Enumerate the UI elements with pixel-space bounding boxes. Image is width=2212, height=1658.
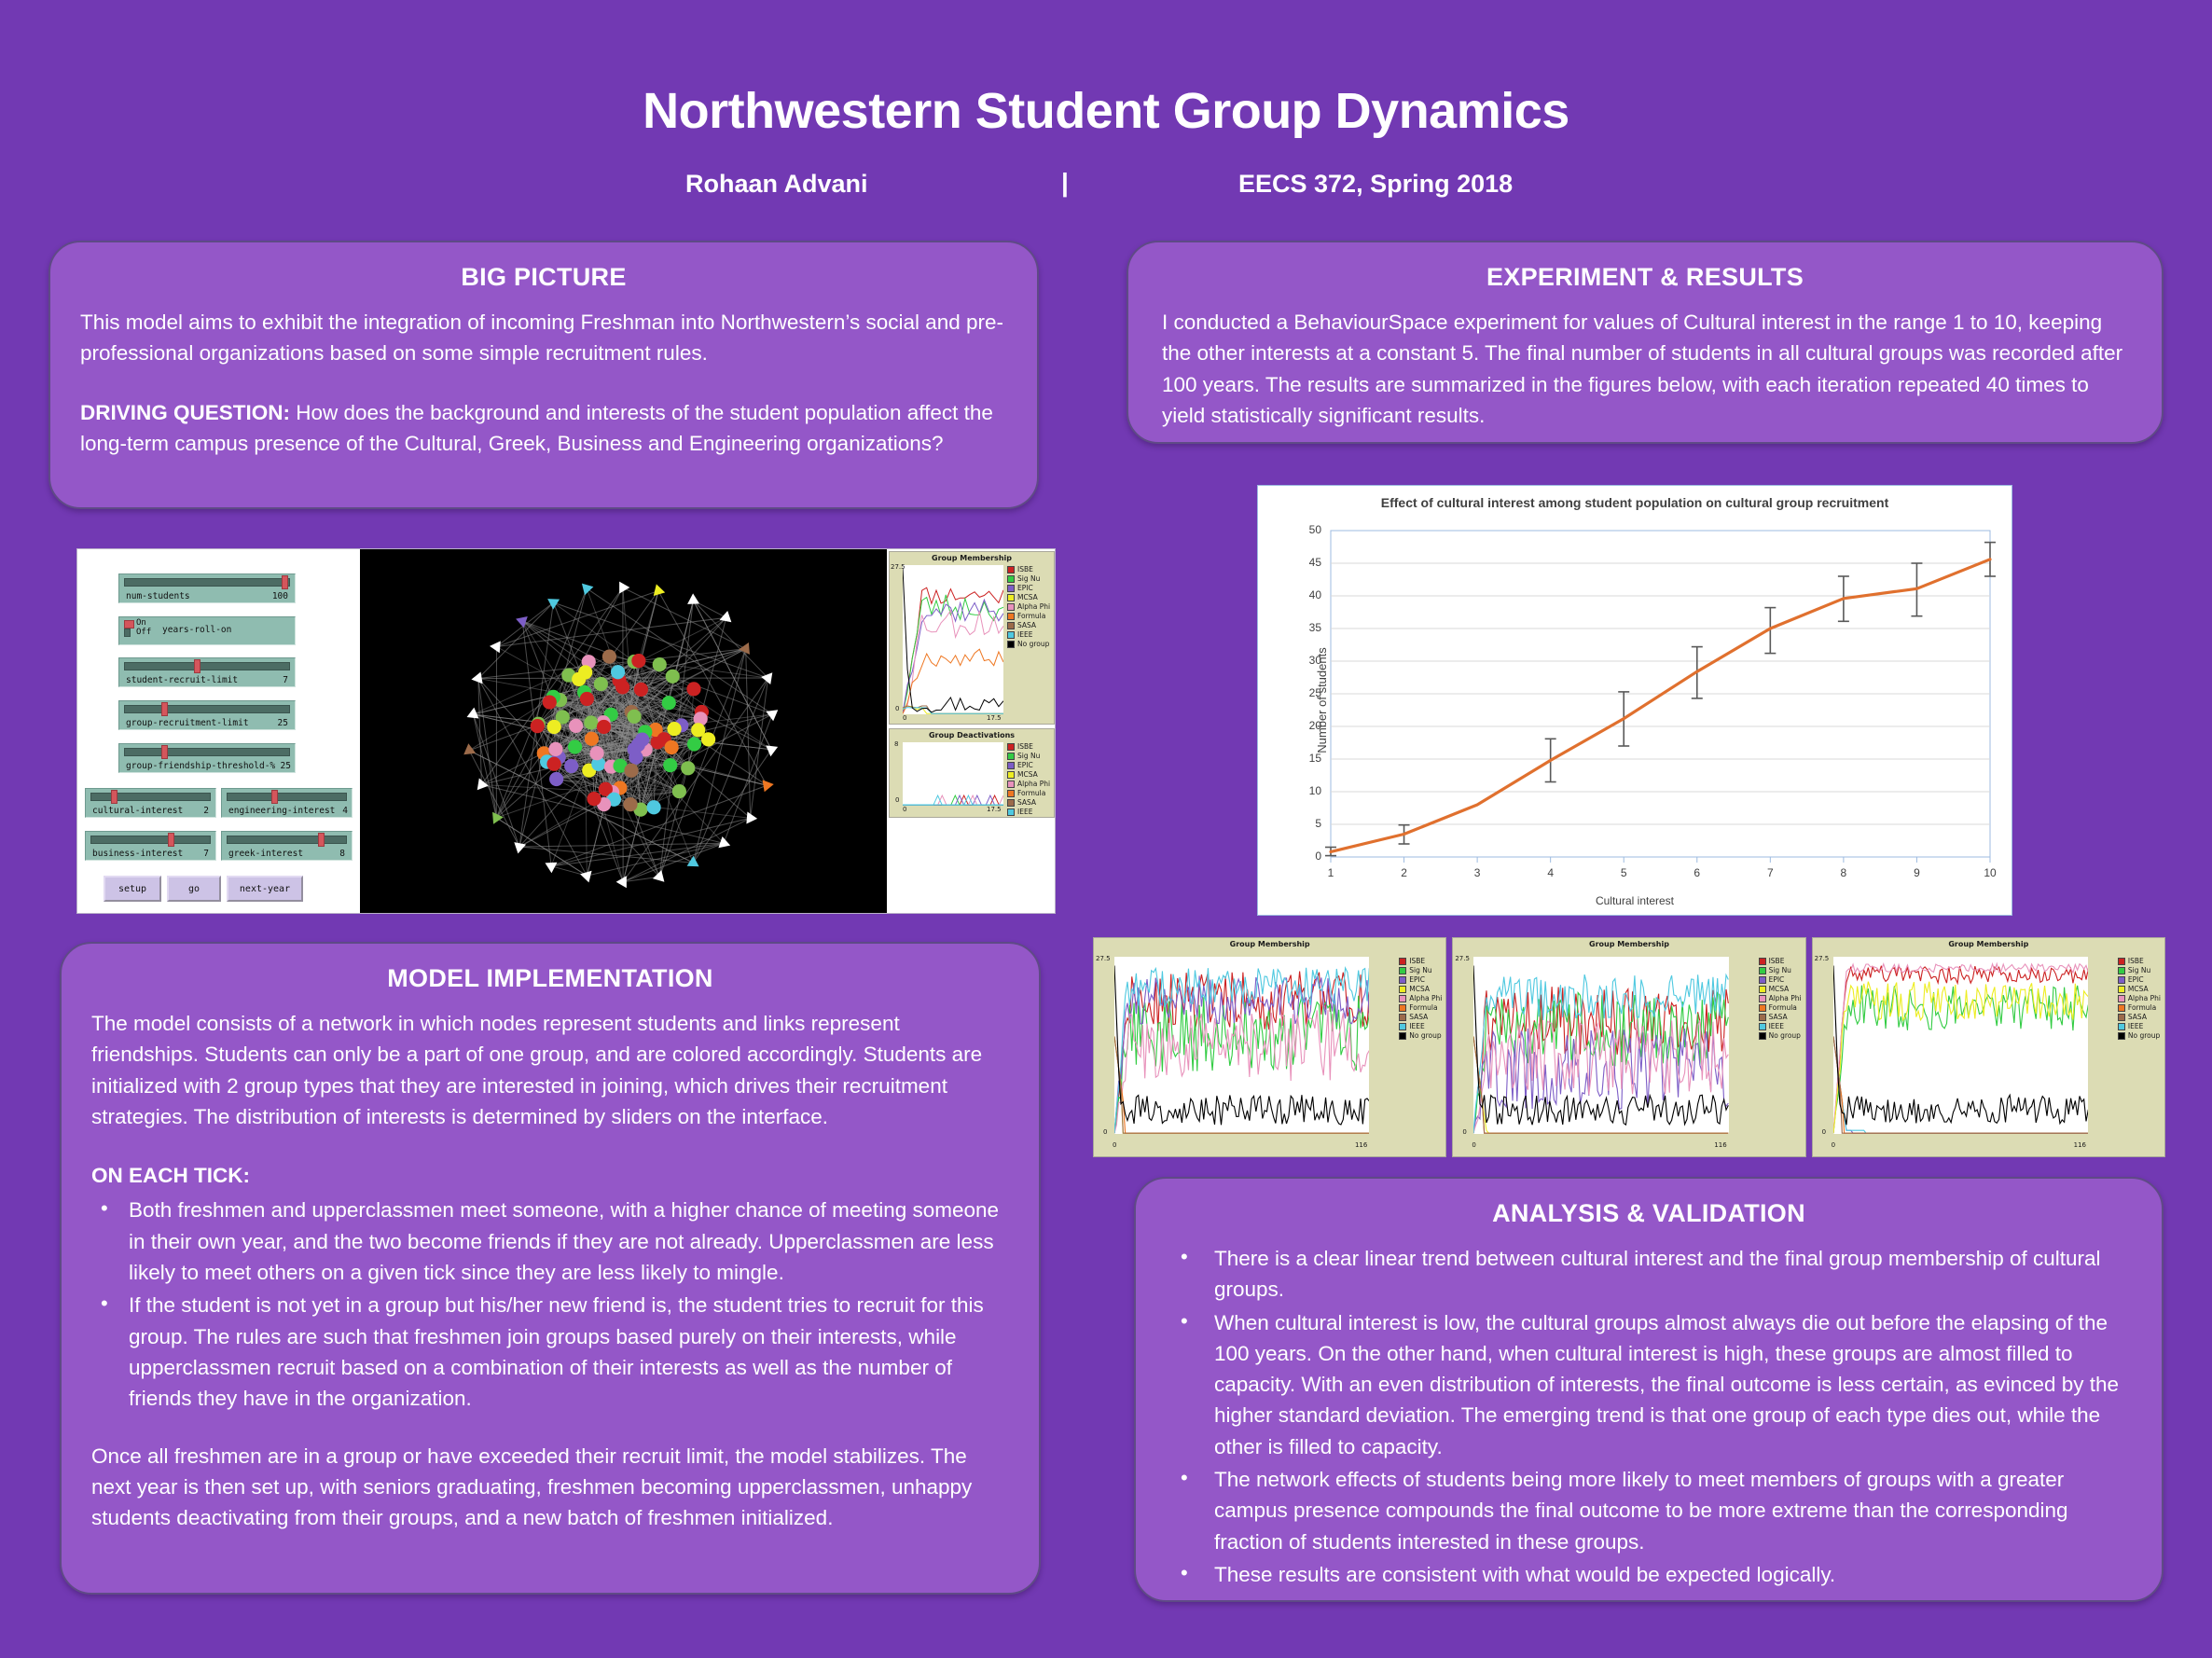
slider-track [124,578,290,587]
slider-thumb[interactable] [168,833,174,847]
plot-title: Group Deactivations [890,731,1054,739]
network-node-student [547,720,561,734]
legend-item: Sig Nu [1007,574,1050,583]
slider-label: cultural-interest [92,806,183,816]
legend-item: IEEE [1007,630,1050,639]
network-node-student [589,746,603,760]
slider-group-recruitment-limit[interactable]: group-recruitment-limit 25 [118,700,296,730]
slider-thumb[interactable] [161,702,168,716]
legend-item: ISBE [2118,957,2161,965]
plot-legend: ISBESig NuEPICMCSAAlpha PhiFormulaSASAIE… [1399,957,1442,1041]
legend-color-swatch [1007,753,1015,760]
legend-label: EPIC [1017,761,1033,769]
legend-label: MCSA [1769,985,1790,993]
plot-group-deactivations: Group Deactivations 8 0 0 17.5 ISBESig N… [889,728,1055,818]
byline: Rohaan Advani | EECS 372, Spring 2018 [0,170,2212,209]
model-heading: MODEL IMPLEMENTATION [91,964,1009,993]
legend-label: SASA [1769,1013,1788,1021]
network-node-student [662,696,676,710]
legend-item: IEEE [1759,1022,1802,1030]
legend-label: MCSA [2128,985,2149,993]
plot-series-line [903,587,1003,713]
network-node-student [580,692,594,706]
main-chart: Effect of cultural interest among studen… [1257,485,2012,916]
legend-color-swatch [1399,967,1406,974]
network-node-student [634,683,648,697]
legend-label: SASA [1409,1013,1428,1021]
network-node-student [564,759,578,773]
plot-group-membership-run-1: Group Membership 27.5 0 0 116 ISBESig Nu… [1093,937,1446,1157]
legend-label: IEEE [1769,1022,1784,1030]
legend-label: SASA [1017,621,1036,629]
plot-y-min: 0 [1103,1128,1107,1136]
legend-item: MCSA [1399,985,1442,993]
legend-label: ISBE [1017,742,1033,751]
legend-color-swatch [1399,1014,1406,1021]
plot-series-line [1833,1037,2088,1134]
legend-label: Sig Nu [1409,966,1431,974]
plot-legend: ISBESig NuEPICMCSAAlpha PhiFormulaSASAIE… [1007,742,1050,817]
network-node-upperclassman [490,641,501,653]
legend-color-swatch [1399,995,1406,1002]
legend-item: EPIC [1759,975,1802,984]
netlogo-network-view [360,549,887,913]
legend-color-swatch [1007,575,1015,583]
netlogo-control-panel: num-students 100 On Off years-roll-on st… [77,549,360,913]
legend-label: Sig Nu [1017,574,1040,583]
big-picture-body: This model aims to exhibit the integrati… [80,307,1007,459]
legend-label: IEEE [1017,630,1032,639]
legend-label: Alpha Phi [2128,994,2161,1002]
netlogo-plot-column: Group Membership 27.5 0 0 17.5 ISBESig N… [887,549,1055,913]
plot-series-line [1833,966,2088,1126]
slider-track [227,793,347,801]
legend-label: IEEE [2128,1022,2143,1030]
legend-label: Sig Nu [1017,752,1040,760]
legend-item: MCSA [2118,985,2161,993]
network-node-student [663,758,677,772]
legend-label: Sig Nu [2128,966,2150,974]
network-node-student [646,800,660,814]
legend-label: Alpha Phi [1409,994,1442,1002]
panel-model-implementation: MODEL IMPLEMENTATION The model consists … [60,942,1041,1595]
legend-color-swatch [1399,986,1406,993]
plot-y-max: 27.5 [1455,955,1470,962]
legend-label: SASA [1017,798,1036,807]
plot-y-min: 0 [1822,1128,1826,1136]
network-node-student [665,740,679,754]
legend-color-swatch [2118,986,2125,993]
legend-color-swatch [1399,1032,1406,1040]
legend-label: Formula [1409,1003,1437,1012]
legend-color-swatch [1007,743,1015,751]
slider-student-recruit-limit[interactable]: student-recruit-limit 7 [118,657,296,687]
slider-label: group-friendship-threshold-% [126,761,275,771]
plot-group-membership-run-2: Group Membership 27.5 0 0 116 ISBESig Nu… [1452,937,1805,1157]
plot-x-min: 0 [903,714,906,722]
legend-item: Alpha Phi [1007,602,1050,611]
plot-y-min: 0 [1462,1128,1466,1136]
bottom-plot-strip: Group Membership 27.5 0 0 116 ISBESig Nu… [1093,937,2165,1157]
legend-color-swatch [1759,995,1766,1002]
slider-thumb[interactable] [194,659,200,673]
network-node-upperclassman [619,582,629,594]
plot-x-min: 0 [1113,1141,1116,1149]
legend-item: MCSA [1759,985,1802,993]
spacer [91,1136,1009,1160]
slider-label: student-recruit-limit [126,675,238,685]
network-node-student [568,739,582,753]
network-node-student [594,677,608,691]
legend-label: EPIC [1017,584,1033,592]
network-node-student [681,761,695,775]
plot-title: Group Membership [1453,940,1804,948]
legend-label: SASA [2128,1013,2147,1021]
network-node-student [584,715,598,729]
legend-item: Sig Nu [2118,966,2161,974]
slider-label: business-interest [92,849,183,859]
switch-label: years-roll-on [162,625,231,635]
slider-thumb[interactable] [318,833,325,847]
panel-analysis-validation: ANALYSIS & VALIDATION There is a clear l… [1134,1177,2164,1602]
network-node-student [629,751,643,765]
slider-thumb[interactable] [282,575,288,589]
plot-x-max: 116 [2074,1141,2086,1149]
big-picture-paragraph: This model aims to exhibit the integrati… [80,307,1007,369]
plot-series-line [903,568,1003,712]
plot-canvas [903,565,1003,714]
page-title: Northwestern Student Group Dynamics [0,82,2212,140]
network-node-student [623,797,637,811]
model-closing-paragraph: Once all freshmen are in a group or have… [91,1441,1009,1534]
slider-engineering-interest[interactable]: engineering-interest 4 [221,788,353,818]
spacer [80,373,1007,397]
switch-knob-on[interactable] [124,620,134,629]
slider-track [90,836,211,844]
legend-item: ISBE [1007,565,1050,573]
legend-color-swatch [1007,631,1015,639]
legend-color-swatch [1759,976,1766,984]
plot-series-line [1833,1037,2088,1134]
network-node-student [667,722,681,736]
legend-item: MCSA [1007,593,1050,601]
legend-item: Sig Nu [1399,966,1442,974]
legend-item: SASA [1007,621,1050,629]
model-paragraph: The model consists of a network in which… [91,1008,1009,1132]
legend-item: Alpha Phi [2118,994,2161,1002]
slider-label: num-students [126,591,190,601]
legend-item: EPIC [2118,975,2161,984]
slider-value: 4 [342,806,348,816]
legend-item: Formula [1007,789,1050,797]
switch-on-label: On [136,618,151,628]
legend-item: Formula [1759,1003,1802,1012]
legend-label: ISBE [1017,565,1033,573]
next-year-button-label: next-year [240,884,290,894]
network-graph-svg [360,549,887,913]
slider-track [124,705,290,713]
slider-value: 25 [278,718,288,728]
plot-x-min: 0 [1472,1141,1475,1149]
network-node-student [543,695,557,709]
go-button[interactable]: go [167,876,221,902]
switch-years-roll-on[interactable]: On Off years-roll-on [118,616,296,645]
legend-item: ISBE [1007,742,1050,751]
plot-series-svg [903,565,1003,714]
legend-item: Alpha Phi [1399,994,1442,1002]
legend-color-swatch [2118,1032,2125,1040]
plot-x-max: 17.5 [987,806,1002,813]
network-node-student [585,732,599,746]
legend-color-swatch [1759,1023,1766,1030]
slider-value: 8 [339,849,345,859]
legend-label: Alpha Phi [1769,994,1802,1002]
plot-series-line [903,595,1003,714]
slider-value: 7 [203,849,209,859]
legend-label: Formula [1017,612,1045,620]
legend-item: SASA [1007,798,1050,807]
legend-color-swatch [1007,799,1015,807]
network-node-student [597,720,611,734]
model-bullet-list: Both freshmen and upperclassmen meet som… [91,1195,1009,1414]
slider-label: greek-interest [228,849,303,859]
slider-value: 7 [283,675,288,685]
poster-header: Northwestern Student Group Dynamics Roha… [0,0,2212,233]
legend-item: Alpha Phi [1007,780,1050,788]
legend-color-swatch [1007,762,1015,769]
network-node-student [666,670,680,684]
legend-color-swatch [1007,603,1015,611]
plot-group-membership-run-3: Group Membership 27.5 0 0 116 ISBESig Nu… [1812,937,2165,1157]
legend-label: Formula [1017,789,1045,797]
analysis-bullet-list: There is a clear linear trend between cu… [1160,1243,2137,1590]
network-node-upperclassman [746,811,757,823]
list-item: The network effects of students being mo… [1160,1464,2137,1557]
legend-color-swatch [1759,958,1766,965]
legend-item: IEEE [2118,1022,2161,1030]
legend-item: SASA [2118,1013,2161,1021]
plot-legend: ISBESig NuEPICMCSAAlpha PhiFormulaSASAIE… [1007,565,1050,649]
network-node-student [611,665,625,679]
plot-title: Group Membership [1813,940,2164,948]
legend-color-swatch [1007,585,1015,592]
legend-color-swatch [1759,1014,1766,1021]
slider-cultural-interest[interactable]: cultural-interest 2 [85,788,216,818]
network-node-student [631,654,645,668]
legend-item: MCSA [1007,770,1050,779]
legend-label: EPIC [2128,975,2144,984]
switch-state-labels: On Off [136,618,151,637]
legend-item: EPIC [1399,975,1442,984]
experiment-body: I conducted a BehaviourSpace experiment … [1162,307,2128,431]
network-node-upperclassman [687,593,699,604]
setup-button-label: setup [118,884,146,894]
slider-track [90,793,211,801]
slider-thumb[interactable] [111,790,118,804]
switch-off-label: Off [136,628,151,637]
on-each-tick-label: ON EACH TICK: [91,1160,1009,1191]
legend-label: EPIC [1769,975,1785,984]
network-node-upperclassman [582,584,593,596]
legend-color-swatch [1399,1004,1406,1012]
legend-item: Formula [1399,1003,1442,1012]
legend-item: No group [2118,1031,2161,1040]
legend-label: No group [1017,640,1049,648]
network-node-student [602,650,616,664]
slider-greek-interest[interactable]: greek-interest 8 [221,831,353,861]
legend-color-swatch [1007,808,1015,816]
legend-color-swatch [2118,967,2125,974]
legend-color-swatch [2118,995,2125,1002]
plot-x-min: 0 [1832,1141,1835,1149]
slider-business-interest[interactable]: business-interest 7 [85,831,216,861]
slider-thumb[interactable] [271,790,278,804]
big-picture-heading: BIG PICTURE [80,263,1007,292]
network-node-student [548,742,562,756]
slider-value: 2 [203,806,209,816]
panel-big-picture: BIG PICTURE This model aims to exhibit t… [48,241,1039,509]
network-node-student [672,784,686,798]
legend-label: Sig Nu [1769,966,1791,974]
setup-button[interactable]: setup [104,876,161,902]
slider-group-friendship-threshold[interactable]: group-friendship-threshold-% 25 [118,743,296,773]
legend-color-swatch [1759,967,1766,974]
list-item: These results are consistent with what w… [1160,1559,2137,1590]
network-node-student [578,665,592,679]
legend-color-swatch [1007,613,1015,620]
list-item: If the student is not yet in a group but… [91,1290,1009,1414]
legend-color-swatch [2118,976,2125,984]
legend-label: No group [2128,1031,2160,1040]
legend-item: Sig Nu [1759,966,1802,974]
network-node-upperclassman [654,584,665,596]
netlogo-interface-screenshot: num-students 100 On Off years-roll-on st… [76,548,1056,914]
legend-item: IEEE [1007,808,1050,816]
plot-legend: ISBESig NuEPICMCSAAlpha PhiFormulaSASAIE… [1759,957,1802,1041]
network-node-student [546,757,560,771]
network-node-upperclassman [471,671,482,684]
plot-y-max: 27.5 [1815,955,1830,962]
experiment-heading: EXPERIMENT & RESULTS [1162,263,2128,292]
network-node-student [549,772,563,786]
spacer [91,1416,1009,1441]
legend-label: No group [1769,1031,1801,1040]
legend-label: Alpha Phi [1017,602,1050,611]
legend-item: SASA [1399,1013,1442,1021]
network-node-student [653,657,667,671]
legend-color-swatch [1399,1023,1406,1030]
legend-item: No group [1399,1031,1442,1040]
slider-track [124,748,290,756]
slider-value: 25 [281,761,291,771]
go-button-label: go [188,884,200,894]
legend-item: SASA [1759,1013,1802,1021]
legend-label: MCSA [1409,985,1430,993]
network-node-student [624,764,638,778]
switch-knob-off[interactable] [124,629,131,637]
legend-label: IEEE [1409,1022,1424,1030]
legend-item: IEEE [1399,1022,1442,1030]
legend-label: Alpha Phi [1017,780,1050,788]
network-node-upperclassman [761,672,772,684]
plot-series-line [1833,1037,2088,1134]
plot-canvas [1833,957,2088,1134]
network-node-upperclassman [763,780,774,792]
network-node-upperclassman [545,863,557,874]
network-node-student [635,732,649,746]
byline-divider: | [1061,168,1069,198]
plot-series-svg [1473,957,1728,1134]
legend-item: Sig Nu [1007,752,1050,760]
slider-thumb[interactable] [161,745,168,759]
legend-item: EPIC [1007,584,1050,592]
list-item: Both freshmen and upperclassmen meet som… [91,1195,1009,1288]
slider-num-students[interactable]: num-students 100 [118,573,296,603]
network-node-student [687,737,701,751]
plot-series-svg [1833,957,2088,1134]
plot-series-svg [1114,957,1369,1134]
network-node-student [531,719,545,733]
network-node-student [615,680,629,694]
plot-canvas [903,742,1003,806]
plot-y-min: 0 [895,796,899,804]
analysis-heading: ANALYSIS & VALIDATION [1160,1199,2137,1228]
legend-color-swatch [2118,958,2125,965]
legend-color-swatch [1399,958,1406,965]
legend-label: IEEE [1017,808,1032,816]
plot-series-line [903,600,1003,713]
legend-color-swatch [1007,790,1015,797]
legend-color-swatch [2118,1004,2125,1012]
network-node-student [627,710,641,724]
legend-color-swatch [2118,1014,2125,1021]
panel-experiment-results: EXPERIMENT & RESULTS I conducted a Behav… [1127,241,2164,444]
experiment-paragraph: I conducted a BehaviourSpace experiment … [1162,307,2128,431]
legend-item: ISBE [1399,957,1442,965]
chart-plot-svg [1258,486,2013,917]
list-item: When cultural interest is low, the cultu… [1160,1307,2137,1462]
legend-label: ISBE [2128,957,2144,965]
plot-x-max: 17.5 [987,714,1002,722]
slider-track [124,662,290,670]
network-node-student [569,719,583,733]
legend-item: Alpha Phi [1759,994,1802,1002]
driving-question: DRIVING QUESTION: How does the backgroun… [80,397,1007,460]
legend-color-swatch [1007,566,1015,573]
network-node-student [691,723,705,737]
slider-value: 100 [272,591,288,601]
legend-item: Formula [2118,1003,2161,1012]
list-item: There is a clear linear trend between cu… [1160,1243,2137,1306]
legend-color-swatch [1399,976,1406,984]
legend-color-swatch [1007,641,1015,648]
plot-x-max: 116 [1714,1141,1726,1149]
network-node-student [587,792,601,806]
legend-label: EPIC [1409,975,1425,984]
plot-series-line [1114,1010,1369,1133]
legend-label: MCSA [1017,770,1038,779]
plot-group-membership-small: Group Membership 27.5 0 0 17.5 ISBESig N… [889,551,1055,725]
model-body: The model consists of a network in which… [91,1008,1009,1533]
plot-y-max: 27.5 [1096,955,1111,962]
legend-color-swatch [1759,1004,1766,1012]
legend-color-swatch [1759,1032,1766,1040]
plot-x-max: 116 [1355,1141,1367,1149]
plot-title: Group Membership [890,554,1054,562]
next-year-button[interactable]: next-year [227,876,303,902]
plot-series-svg [903,742,1003,806]
legend-item: Formula [1007,612,1050,620]
